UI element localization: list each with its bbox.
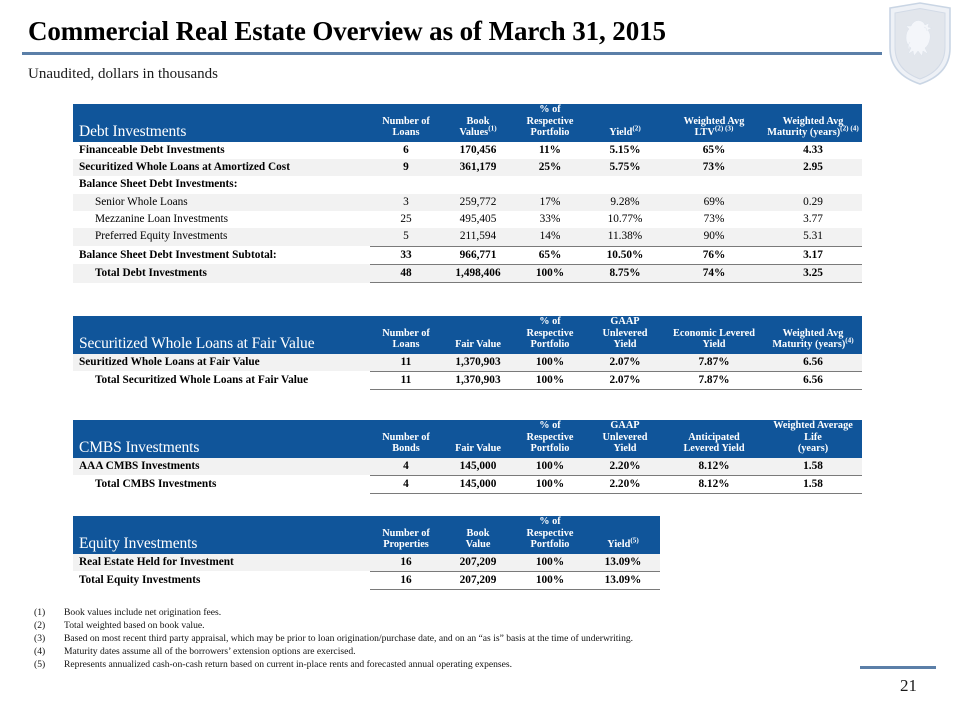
col-header-number-of-bonds: Number ofBonds: [370, 420, 442, 458]
table-body: AAA CMBS Investments4145,000100%2.20%8.1…: [73, 458, 862, 494]
col-header-yield: Yield(2): [586, 104, 664, 142]
cell-value: 11: [370, 354, 442, 372]
cell-value: 11: [370, 371, 442, 389]
table-row: Total Equity Investments16207,209100%13.…: [73, 571, 660, 589]
footnote-number: (5): [34, 658, 64, 671]
col-header-anticipated-levered-yield: AnticipatedLevered Yield: [664, 420, 764, 458]
cell-value: 5.15%: [586, 142, 664, 159]
col-header-number-of-loans: Number ofLoans: [370, 316, 442, 354]
cell-value: 361,179: [442, 159, 514, 176]
table-debt-investments: Debt Investments Number ofLoans BookValu…: [73, 104, 862, 283]
cell-value: 74%: [664, 264, 764, 282]
page-title: Commercial Real Estate Overview as of Ma…: [28, 16, 666, 47]
row-label: Mezzanine Loan Investments: [73, 211, 370, 228]
col-header-gaap-unlevered-yield: GAAPUnleveredYield: [586, 420, 664, 458]
lion-shield-logo: [886, 2, 954, 86]
footnote-item: (3)Based on most recent third party appr…: [34, 632, 633, 645]
cell-value: 0.29: [764, 194, 862, 211]
col-header-yield: Yield(5): [586, 516, 660, 554]
cell-value: 145,000: [442, 475, 514, 493]
cell-value: 76%: [664, 246, 764, 264]
cell-value: 5.75%: [586, 159, 664, 176]
table-header-row: CMBS Investments Number ofBonds Fair Val…: [73, 420, 862, 458]
table-row: Mezzanine Loan Investments25495,40533%10…: [73, 211, 862, 228]
cell-value: 14%: [514, 228, 586, 246]
cell-value: 1,370,903: [442, 354, 514, 372]
footnote-number: (3): [34, 632, 64, 645]
col-header-pct-portfolio: % ofRespectivePortfolio: [514, 316, 586, 354]
cell-value: 13.09%: [586, 571, 660, 589]
table-header-row: Securitized Whole Loans at Fair Value Nu…: [73, 316, 862, 354]
table-row: Total Securitized Whole Loans at Fair Va…: [73, 371, 862, 389]
cell-value: 33%: [514, 211, 586, 228]
row-label: Total CMBS Investments: [73, 475, 370, 493]
subtitle: Unaudited, dollars in thousands: [28, 66, 218, 83]
row-label: Senior Whole Loans: [73, 194, 370, 211]
table-header-row: Equity Investments Number ofProperties B…: [73, 516, 660, 554]
cell-value: 100%: [514, 475, 586, 493]
cell-value: 259,772: [442, 194, 514, 211]
row-label: AAA CMBS Investments: [73, 458, 370, 476]
col-header-pct-portfolio: % ofRespectivePortfolio: [514, 104, 586, 142]
cell-value: [586, 176, 664, 193]
table-body: Financeable Debt Investments6170,45611%5…: [73, 142, 862, 283]
col-header-economic-levered-yield: Economic LeveredYield: [664, 316, 764, 354]
cell-value: 100%: [514, 458, 586, 476]
cell-value: 3: [370, 194, 442, 211]
cell-value: 7.87%: [664, 371, 764, 389]
row-label: Preferred Equity Investments: [73, 228, 370, 246]
section-title: Debt Investments: [73, 104, 370, 142]
cell-value: 17%: [514, 194, 586, 211]
cell-value: 9.28%: [586, 194, 664, 211]
table-header-row: Debt Investments Number ofLoans BookValu…: [73, 104, 862, 142]
col-header-number-of-loans: Number ofLoans: [370, 104, 442, 142]
cell-value: 90%: [664, 228, 764, 246]
col-header-wa-maturity: Weighted AvgMaturity (years)(4): [764, 316, 862, 354]
row-label: Financeable Debt Investments: [73, 142, 370, 159]
col-header-book-values: BookValues(1): [442, 104, 514, 142]
table-body: Seuritized Whole Loans at Fair Value111,…: [73, 354, 862, 390]
row-label: Seuritized Whole Loans at Fair Value: [73, 354, 370, 372]
footnote-item: (4)Maturity dates assume all of the borr…: [34, 645, 633, 658]
cell-value: 4.33: [764, 142, 862, 159]
table-row: Real Estate Held for Investment16207,209…: [73, 554, 660, 572]
cell-value: 8.75%: [586, 264, 664, 282]
cell-value: 6.56: [764, 371, 862, 389]
cell-value: 100%: [514, 554, 586, 572]
col-header-weighted-average-life: Weighted Average Life(years): [764, 420, 862, 458]
footnote-number: (1): [34, 606, 64, 619]
cell-value: [514, 176, 586, 193]
cell-value: 2.07%: [586, 371, 664, 389]
table-row: Total CMBS Investments4145,000100%2.20%8…: [73, 475, 862, 493]
cell-value: 145,000: [442, 458, 514, 476]
col-header-pct-portfolio: % ofRespectivePortfolio: [514, 420, 586, 458]
cell-value: 207,209: [442, 571, 514, 589]
row-label: Real Estate Held for Investment: [73, 554, 370, 572]
cell-value: 65%: [664, 142, 764, 159]
cell-value: 1,498,406: [442, 264, 514, 282]
table-securitized-whole-loans: Securitized Whole Loans at Fair Value Nu…: [73, 316, 862, 390]
title-divider: [22, 52, 882, 55]
cell-value: 2.20%: [586, 458, 664, 476]
footnote-text: Total weighted based on book value.: [64, 619, 205, 632]
row-label: Total Equity Investments: [73, 571, 370, 589]
cell-value: 6.56: [764, 354, 862, 372]
cell-value: [370, 176, 442, 193]
cell-value: 11%: [514, 142, 586, 159]
cell-value: 495,405: [442, 211, 514, 228]
col-header-book-value: BookValue: [442, 516, 514, 554]
cell-value: [442, 176, 514, 193]
footnote-item: (5)Represents annualized cash-on-cash re…: [34, 658, 633, 671]
row-label: Balance Sheet Debt Investment Subtotal:: [73, 246, 370, 264]
cell-value: 1.58: [764, 475, 862, 493]
row-label: Total Debt Investments: [73, 264, 370, 282]
cell-value: 2.95: [764, 159, 862, 176]
footnote-number: (2): [34, 619, 64, 632]
table-row: Seuritized Whole Loans at Fair Value111,…: [73, 354, 862, 372]
table-row: Balance Sheet Debt Investments:: [73, 176, 862, 193]
table-row: Securitized Whole Loans at Amortized Cos…: [73, 159, 862, 176]
table-row: Financeable Debt Investments6170,45611%5…: [73, 142, 862, 159]
col-header-gaap-unlevered-yield: GAAPUnleveredYield: [586, 316, 664, 354]
cell-value: 10.77%: [586, 211, 664, 228]
footnote-number: (4): [34, 645, 64, 658]
cell-value: 10.50%: [586, 246, 664, 264]
footnotes: (1)Book values include net origination f…: [34, 606, 633, 671]
cell-value: 13.09%: [586, 554, 660, 572]
table-row: Balance Sheet Debt Investment Subtotal:3…: [73, 246, 862, 264]
cell-value: 48: [370, 264, 442, 282]
footnote-text: Represents annualized cash-on-cash retur…: [64, 658, 512, 671]
section-title: Equity Investments: [73, 516, 370, 554]
footnote-item: (2)Total weighted based on book value.: [34, 619, 633, 632]
cell-value: 2.20%: [586, 475, 664, 493]
cell-value: 3.25: [764, 264, 862, 282]
cell-value: 6: [370, 142, 442, 159]
cell-value: 8.12%: [664, 458, 764, 476]
section-title: CMBS Investments: [73, 420, 370, 458]
cell-value: 4: [370, 475, 442, 493]
cell-value: 69%: [664, 194, 764, 211]
cell-value: 170,456: [442, 142, 514, 159]
cell-value: 100%: [514, 354, 586, 372]
cell-value: 7.87%: [664, 354, 764, 372]
col-header-wa-maturity: Weighted AvgMaturity (years)(2) (4): [764, 104, 862, 142]
cell-value: 11.38%: [586, 228, 664, 246]
section-title: Securitized Whole Loans at Fair Value: [73, 316, 370, 354]
cell-value: 100%: [514, 264, 586, 282]
cell-value: 16: [370, 554, 442, 572]
table-row: AAA CMBS Investments4145,000100%2.20%8.1…: [73, 458, 862, 476]
row-label: Securitized Whole Loans at Amortized Cos…: [73, 159, 370, 176]
cell-value: 33: [370, 246, 442, 264]
cell-value: [764, 176, 862, 193]
col-header-number-of-properties: Number ofProperties: [370, 516, 442, 554]
cell-value: 211,594: [442, 228, 514, 246]
cell-value: 966,771: [442, 246, 514, 264]
footnote-text: Based on most recent third party apprais…: [64, 632, 633, 645]
cell-value: 3.17: [764, 246, 862, 264]
table-row: Senior Whole Loans3259,77217%9.28%69%0.2…: [73, 194, 862, 211]
footnote-item: (1)Book values include net origination f…: [34, 606, 633, 619]
cell-value: 1,370,903: [442, 371, 514, 389]
cell-value: 73%: [664, 211, 764, 228]
col-header-pct-portfolio: % ofRespectivePortfolio: [514, 516, 586, 554]
col-header-fair-value: Fair Value: [442, 420, 514, 458]
cell-value: 5.31: [764, 228, 862, 246]
cell-value: 65%: [514, 246, 586, 264]
table-body: Real Estate Held for Investment16207,209…: [73, 554, 660, 590]
slide: Commercial Real Estate Overview as of Ma…: [0, 0, 960, 720]
cell-value: 100%: [514, 571, 586, 589]
row-label: Total Securitized Whole Loans at Fair Va…: [73, 371, 370, 389]
cell-value: 73%: [664, 159, 764, 176]
cell-value: 3.77: [764, 211, 862, 228]
row-label: Balance Sheet Debt Investments:: [73, 176, 370, 193]
col-header-wa-ltv: Weighted AvgLTV(2) (3): [664, 104, 764, 142]
col-header-fair-value: Fair Value: [442, 316, 514, 354]
table-equity-investments: Equity Investments Number ofProperties B…: [73, 516, 660, 590]
footnote-text: Maturity dates assume all of the borrowe…: [64, 645, 356, 658]
footer-divider: [860, 666, 936, 669]
cell-value: 1.58: [764, 458, 862, 476]
page-number: 21: [900, 676, 917, 696]
cell-value: 25: [370, 211, 442, 228]
cell-value: 16: [370, 571, 442, 589]
table-row: Total Debt Investments481,498,406100%8.7…: [73, 264, 862, 282]
cell-value: 5: [370, 228, 442, 246]
cell-value: 207,209: [442, 554, 514, 572]
cell-value: 8.12%: [664, 475, 764, 493]
table-row: Preferred Equity Investments5211,59414%1…: [73, 228, 862, 246]
cell-value: 9: [370, 159, 442, 176]
cell-value: [664, 176, 764, 193]
table-cmbs-investments: CMBS Investments Number ofBonds Fair Val…: [73, 420, 862, 494]
cell-value: 100%: [514, 371, 586, 389]
footnote-text: Book values include net origination fees…: [64, 606, 221, 619]
cell-value: 25%: [514, 159, 586, 176]
cell-value: 4: [370, 458, 442, 476]
cell-value: 2.07%: [586, 354, 664, 372]
